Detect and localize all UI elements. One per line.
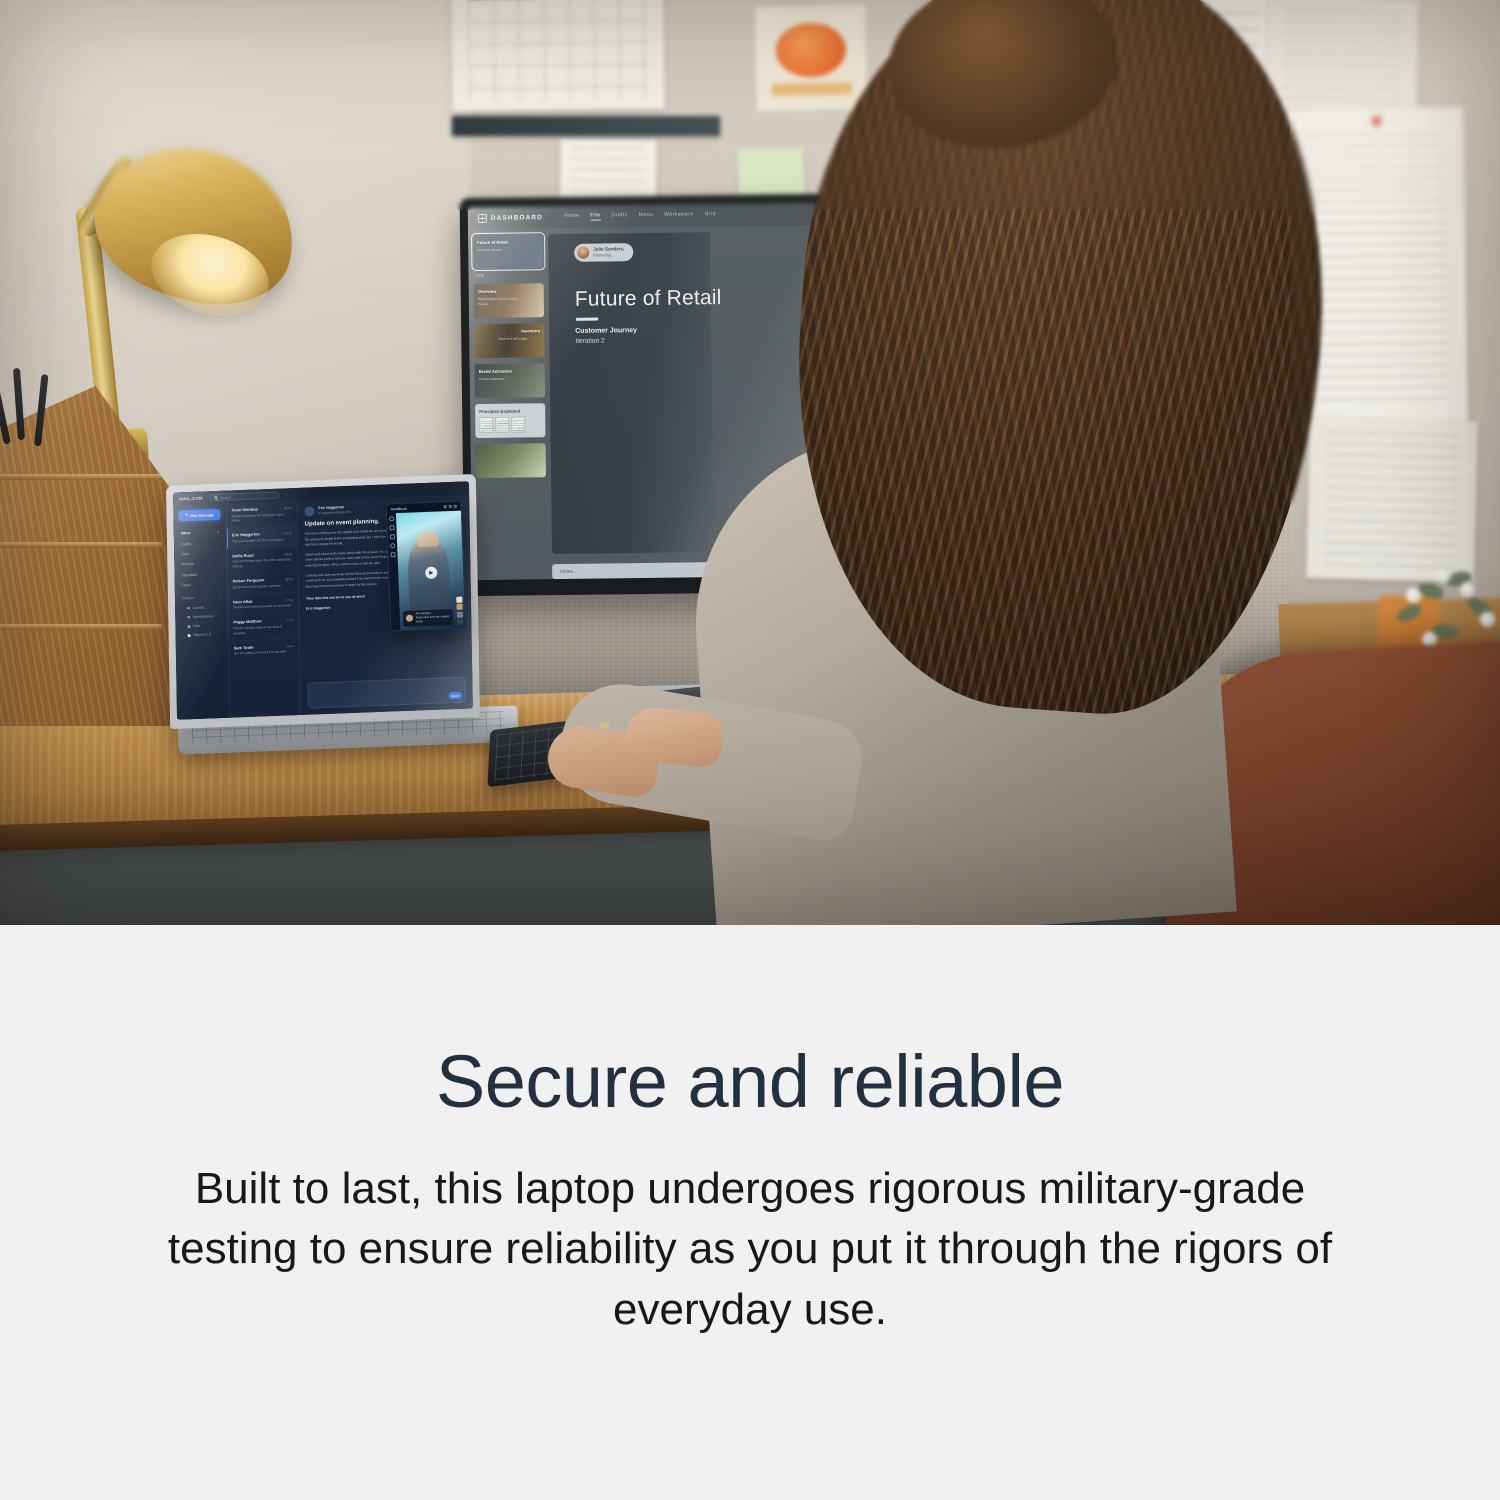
presenter-role: Marketing [593,253,624,259]
folders-header-label: Folders [182,596,194,600]
folder-label: Trash [182,583,191,587]
poster-blob [775,22,847,78]
folder-label: Drafts [181,542,191,546]
nav-item-grid[interactable]: Grid [705,211,717,219]
thumbnail-subtitle: Stock flow and supply [498,336,540,341]
slide-thumbnail[interactable]: Principles Explained [475,403,545,438]
avatar [577,247,589,259]
folder-label: Archive [181,562,193,566]
search-icon [214,496,218,500]
thumbnail-mini-cards [479,416,525,433]
flower [1406,588,1421,603]
marketing-body-copy: Built to last, this laptop undergoes rig… [150,1159,1350,1341]
sender-avatar [304,506,314,516]
folder-list: Inbox 3 Drafts Sent Archive Important Tr… [179,527,222,591]
document-lines [1282,9,1404,115]
slide-thumbnail-rail[interactable]: Future of Retail Customer Journey 1/04 O… [468,228,552,580]
search-input[interactable]: Search [209,492,279,502]
nav-item-drafts[interactable]: Drafts [611,212,627,220]
calendar-grid [468,0,647,101]
record-icon[interactable] [389,516,394,521]
slide-thumbnail[interactable]: Inventory Stock flow and supply [474,323,544,358]
slide-thumbnail[interactable] [476,443,546,478]
grid-logo-icon [478,213,487,222]
organizer-shelf [0,624,162,630]
mini-card [511,416,525,432]
marketing-panel: Secure and reliable Built to last, this … [0,925,1500,1500]
media-player-window[interactable]: SandBook Aria [386,501,467,632]
message-preview: Thanks and looking forward to next week. [233,603,293,610]
mail-brand-label: MAIL.COM [179,496,203,502]
video-caption: Aria Mendez Field notes from the coastal… [403,609,454,627]
thumbnail-title: Principles Explained [479,409,520,415]
video-subject-hat [416,530,439,547]
document-large-lines [1302,133,1450,409]
close-icon[interactable] [454,505,457,508]
thumbnail-subtitle: In-store experience [479,377,521,382]
message-subject: Sam Tooth [234,644,254,650]
caption-avatar [406,615,413,622]
list-item[interactable]: Sam Tooth06:44 Got the galley proof and … [229,639,299,662]
message-preview: Very kind notes about the color balancin… [232,558,292,570]
mail-sidebar: + New Message Inbox 3 Drafts Sent Archiv… [173,504,229,720]
message-list[interactable]: Team Standup09:41 Thanks everyone for jo… [225,501,301,718]
organizer-shelf [0,542,162,548]
wall-poster-orange [755,5,867,111]
subfolder-reports[interactable]: Reports 2.0 [181,630,223,641]
list-item[interactable]: Team Standup09:41 Thanks everyone for jo… [226,501,296,529]
wall-calendar-paper [451,0,664,111]
send-button[interactable]: Send [449,692,462,699]
message-subject: Noor Atlas [233,598,253,604]
reply-composer[interactable]: Send [307,677,465,709]
folders-header[interactable]: Folders ⌄ [182,595,222,601]
sender-email: e.haggerton@mail.com [318,510,350,516]
message-time: 07:58 [285,598,293,602]
nav-item-file[interactable]: File [590,213,600,221]
swatch[interactable] [456,604,462,610]
message-time: 09:41 [284,506,292,510]
list-item[interactable]: Nelson Ferguson08:30 Quick look at the q… [228,572,298,595]
search-placeholder: Search [220,495,231,499]
slide-iteration: Iteration 2 [575,337,604,344]
nav-item-workspace[interactable]: Workspace [664,211,694,219]
slide-thumbnail[interactable]: Future of Retail Customer Journey [473,234,543,269]
message-subject: Team Standup [231,506,258,512]
finger-ring [600,721,610,728]
message-subject: Eric Haggerton [232,532,260,538]
slide-scrim [548,232,714,554]
slide-counter: 1/04 [475,272,543,278]
thumbnail-subtitle: Customer Journey [477,248,519,253]
thumbnail-title: Future of Retail [477,240,508,246]
folder-count: 3 [217,530,219,534]
wall-document-right [1267,0,1419,125]
adjust-icon[interactable] [390,543,395,548]
compose-button[interactable]: + New Message [178,509,220,522]
window-controls[interactable] [444,505,457,508]
list-item[interactable]: Noor Atlas07:58 Thanks and looking forwa… [228,593,298,616]
pushpin-red [1372,116,1381,125]
swatch[interactable] [457,611,463,617]
swatch[interactable] [456,596,462,602]
message-time: 06:44 [286,644,294,648]
list-item[interactable]: Stella Ruud08:55 Very kind notes about t… [227,547,297,575]
message-subject: Peggy Matthew [233,619,261,625]
subfolder-label: Reports 2.0 [193,633,211,638]
message-time: 08:55 [285,552,293,556]
thumbnail-title: Overview [478,289,497,295]
compose-label: New Message [190,513,214,518]
thumbnail-title: Inventory [521,328,540,334]
text-icon[interactable] [390,552,395,557]
layers-icon[interactable] [390,534,395,539]
page-title: Secure and reliable [436,1043,1064,1121]
message-preview: Please include these in the deck if poss… [233,624,293,636]
player-body: Aria Mendez Field notes from the coastal… [387,511,465,631]
slide-subtitle: Customer Journey [575,327,637,335]
notes-placeholder: Notes... [560,568,577,574]
play-button[interactable] [425,566,437,578]
maximize-icon[interactable] [449,505,452,508]
dashboard-nav: Home File Drafts Menu Workspace Grid [564,211,716,221]
list-item[interactable]: Peggy Matthew07:20 Please include these … [228,613,298,641]
swatch[interactable] [457,619,463,625]
message-time: 07:20 [286,618,294,622]
chevron-down-icon: ⌄ [219,595,222,599]
flower [1436,568,1451,583]
presenter-chip[interactable]: Julie Sanders, Marketing [574,243,633,262]
wall-document-lower [1306,418,1478,582]
document-lower-lines [1323,431,1461,569]
message-subject: Nelson Ferguson [233,577,265,583]
leaf [1394,601,1424,626]
message-subject: Stella Ruud [232,552,253,558]
message-preview: Quick look at the quarter numbers. [233,583,293,590]
slide-title: Future of Retail [575,286,722,312]
crop-icon[interactable] [389,525,394,530]
video-preview[interactable]: Aria Mendez Field notes from the coastal… [396,511,465,630]
mini-card [495,417,509,433]
dashboard-logo[interactable]: DASHBOARD [478,213,543,223]
nav-item-home[interactable]: Home [564,213,580,221]
folder-label: Sent [181,552,189,556]
color-swatches[interactable] [456,596,463,625]
message-time: 09:12 [284,532,292,536]
mini-card [479,417,493,433]
message-preview: Top level updates on the new launch. [232,537,292,544]
subfolder-label: Specifications [193,614,214,619]
wall-dark-banner [452,116,720,136]
product-photo: DASHBOARD Home File Drafts Menu Workspac… [0,0,1500,925]
slide-thumbnail[interactable]: Brand Activation In-store experience [475,363,545,398]
folder-label: Important [182,572,198,577]
nav-item-menu[interactable]: Menu [639,212,654,220]
poster-bar [772,82,851,96]
flower [1480,612,1495,627]
slide-divider [576,318,598,321]
message-preview: Got the galley proof and it reads well. [234,649,294,656]
list-item[interactable]: Eric Haggerton09:12 Top level updates on… [227,526,297,549]
player-title: SandBook [391,506,407,511]
message-preview: Thanks everyone for joining the sync tod… [231,512,291,524]
caption-text: Field notes from the coastal shoot [416,615,450,624]
plus-icon: + [185,513,188,518]
slide-thumbnail[interactable]: Overview Retail insights and key market … [474,283,544,318]
thumbnail-title: Brand Activation [479,369,512,375]
subfolder-label: Data [193,624,200,628]
leaf [1416,580,1445,601]
flower [1460,582,1475,597]
dashboard-logo-label: DASHBOARD [491,214,543,222]
organizer-shelf [0,474,162,480]
minimize-icon[interactable] [444,505,447,508]
folder-label: Inbox [181,531,191,535]
thumbnail-subtitle: Retail insights and key market themes [478,297,520,307]
sidebar-item-trash[interactable]: Trash [180,579,222,591]
subfolder-label: Journal [193,605,204,609]
message-time: 08:30 [285,577,293,581]
